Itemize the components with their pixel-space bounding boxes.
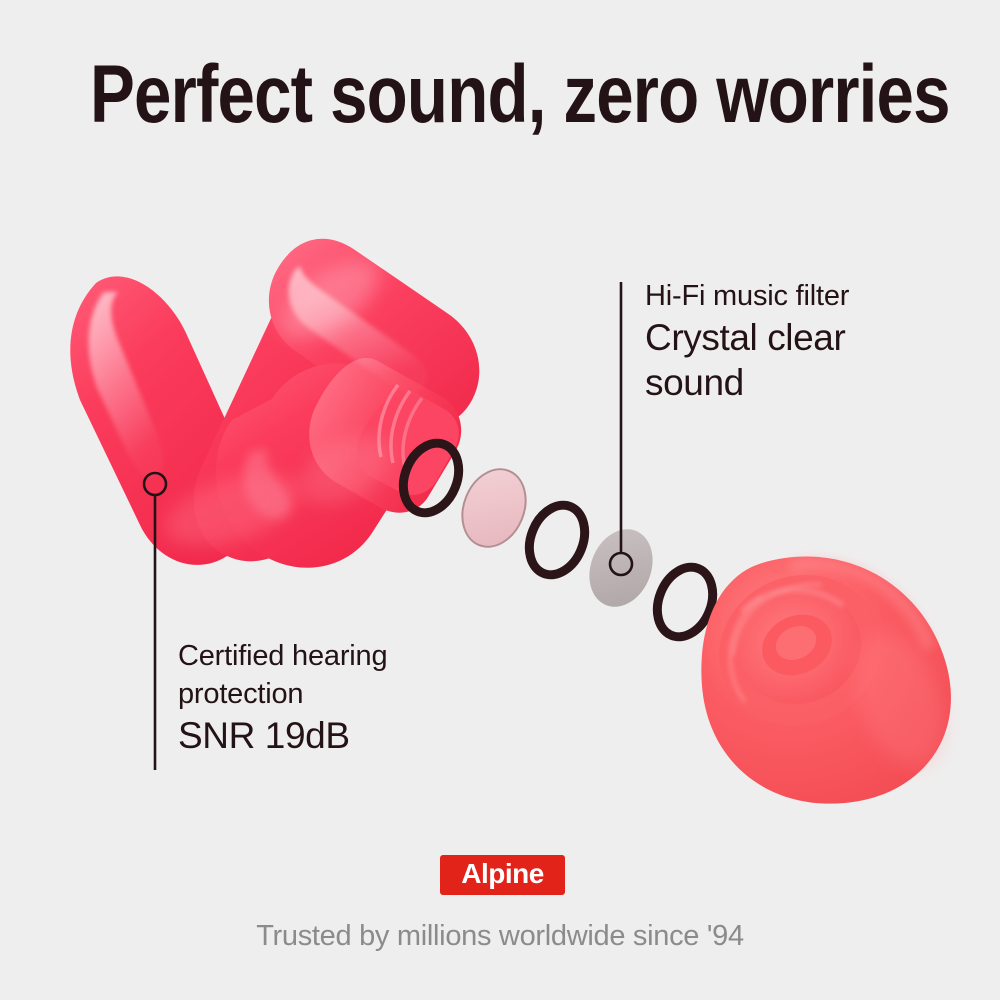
product-artwork (0, 0, 1000, 1000)
ear-tip (696, 551, 961, 804)
product-infographic: Perfect sound, zero worries (0, 0, 1000, 1000)
callout-hearing-protection-eyebrow-line2: protection (178, 675, 498, 713)
acoustic-filter-disc (451, 460, 537, 557)
acoustic-membrane-disc (578, 520, 664, 617)
callout-music-filter-eyebrow: Hi-Fi music filter (645, 277, 945, 315)
alpine-logo-text: Alpine (461, 860, 544, 888)
callout-hearing-protection: Certified hearing protection SNR 19dB (178, 637, 498, 759)
alpine-logo: Alpine (440, 855, 565, 895)
o-ring-3 (647, 559, 722, 645)
callout-leader-left (144, 473, 166, 770)
callout-hearing-protection-eyebrow-line1: Certified hearing (178, 637, 498, 675)
callout-music-filter: Hi-Fi music filter Crystal clear sound (645, 277, 945, 405)
earplug-body-group (70, 239, 479, 568)
page-title: Perfect sound, zero worries (90, 52, 910, 138)
o-ring-1 (393, 435, 468, 521)
callout-music-filter-heading-line2: sound (645, 360, 945, 405)
footer-tagline: Trusted by millions worldwide since '94 (0, 918, 1000, 954)
callout-hearing-protection-value: SNR 19dB (178, 713, 498, 759)
o-ring-2 (519, 497, 594, 583)
callout-music-filter-heading-line1: Crystal clear (645, 315, 945, 360)
callout-leader-right (610, 282, 632, 575)
